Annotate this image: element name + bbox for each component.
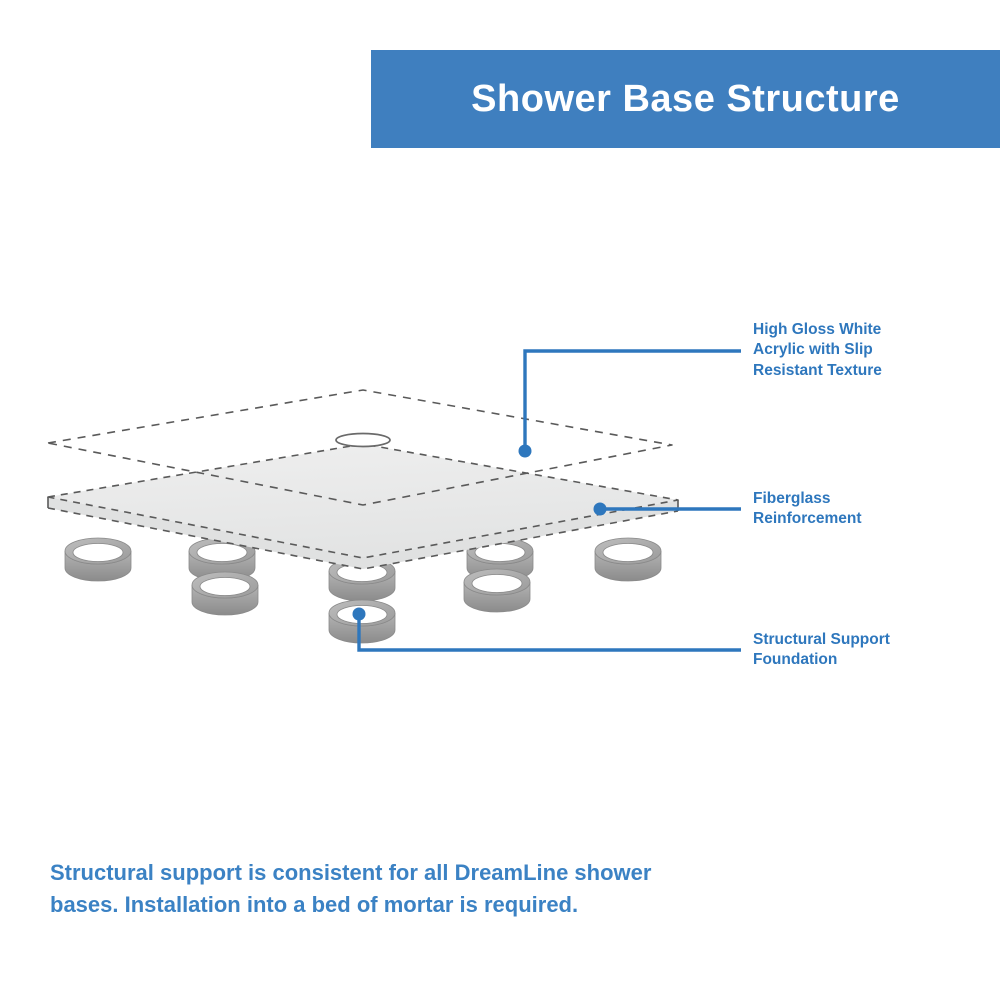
support-ring	[65, 538, 131, 581]
callout-label-fiberglass: Fiberglass Reinforcement	[753, 489, 993, 530]
leader-dot-acrylic	[519, 445, 532, 458]
callout-label-acrylic: High Gloss White Acrylic with Slip Resis…	[753, 320, 993, 381]
leader-line-foundation	[359, 614, 741, 650]
support-ring	[464, 569, 530, 612]
drain-opening	[336, 434, 390, 447]
leader-line-acrylic	[525, 351, 741, 451]
diagram-canvas: Shower Base Structure	[0, 0, 1000, 1000]
leader-dot-foundation	[353, 608, 366, 621]
leader-dot-fiberglass	[594, 503, 607, 516]
footer-note: Structural support is consistent for all…	[50, 857, 690, 921]
support-ring	[329, 600, 395, 643]
support-ring	[595, 538, 661, 581]
callout-label-foundation: Structural Support Foundation	[753, 630, 993, 671]
support-ring	[192, 572, 258, 615]
